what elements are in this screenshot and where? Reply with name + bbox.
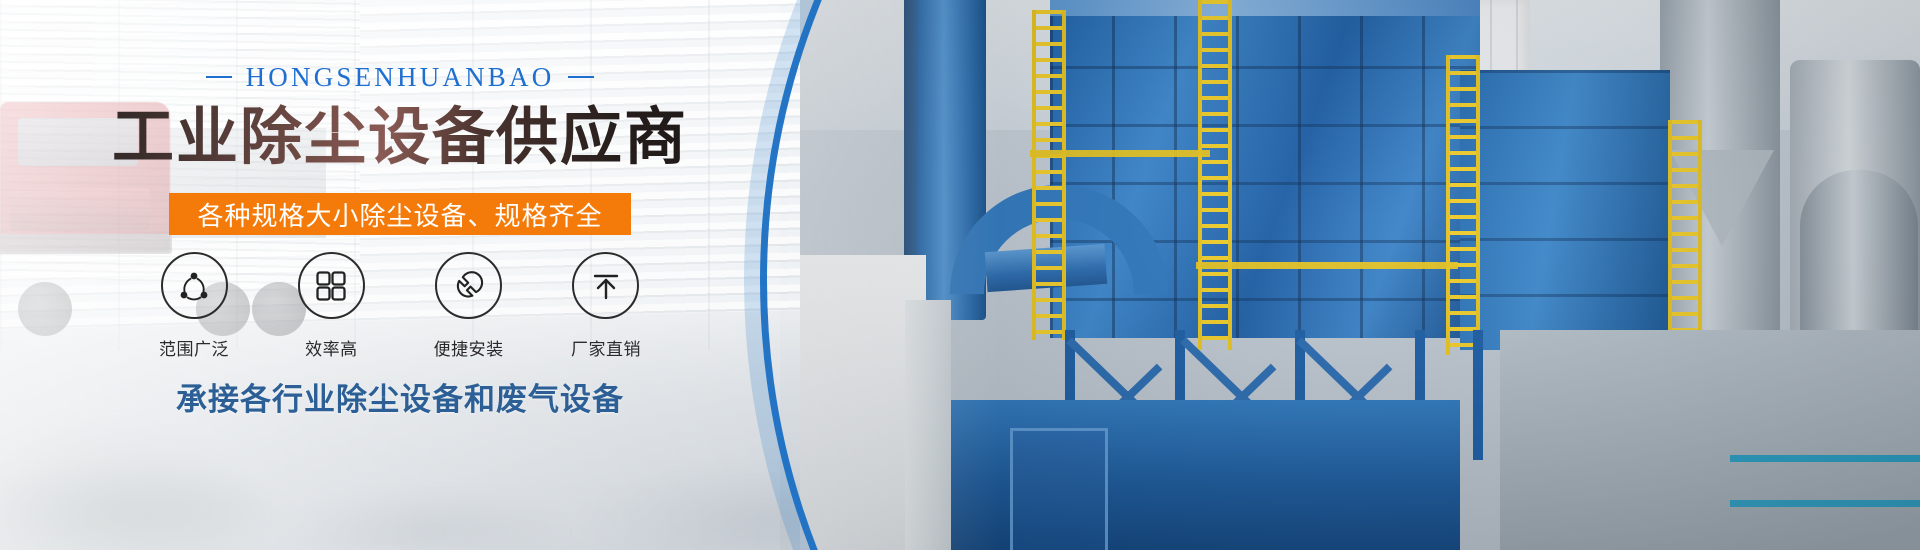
hero-content: HONGSENHUANBAO 工业除尘设备供应商 各种规格大小除尘设备、规格齐全 [0,0,860,550]
brand-pinyin-text: HONGSENHUANBAO [246,62,555,92]
feature-icon-circle [435,252,502,319]
highlight-bar-text: 各种规格大小除尘设备、规格齐全 [197,196,602,233]
dash-right-icon [568,76,594,78]
feature-icon-circle [298,252,365,319]
brand-pinyin: HONGSENHUANBAO [0,62,800,93]
share-nodes-icon [176,268,212,304]
feature-list: 范围广泛 效率高 [140,252,660,360]
arrow-up-bar-icon [589,269,623,303]
feature-icon-circle [161,252,228,319]
feature-label: 范围广泛 [140,335,248,360]
feature-icon-circle [572,252,639,319]
tagline: 承接各行业除尘设备和废气设备 [0,374,800,419]
highlight-bar: 各种规格大小除尘设备、规格齐全 [169,193,631,235]
dash-left-icon [206,76,232,78]
feature-label: 效率高 [277,335,385,360]
decorative-blue-arc [760,0,1920,550]
feature-item-direct-sales[interactable]: 厂家直销 [552,252,660,360]
feature-item-installation[interactable]: 便捷安装 [415,252,523,360]
feature-label: 便捷安装 [415,335,523,360]
feature-item-range[interactable]: 范围广泛 [140,252,248,360]
page-title: 工业除尘设备供应商 [0,104,800,169]
feature-item-efficiency[interactable]: 效率高 [277,252,385,360]
hero-banner: HONGSENHUANBAO 工业除尘设备供应商 各种规格大小除尘设备、规格齐全 [0,0,1920,550]
feature-label: 厂家直销 [552,335,660,360]
grid-four-squares-icon [314,269,348,303]
wrench-icon [450,267,488,305]
